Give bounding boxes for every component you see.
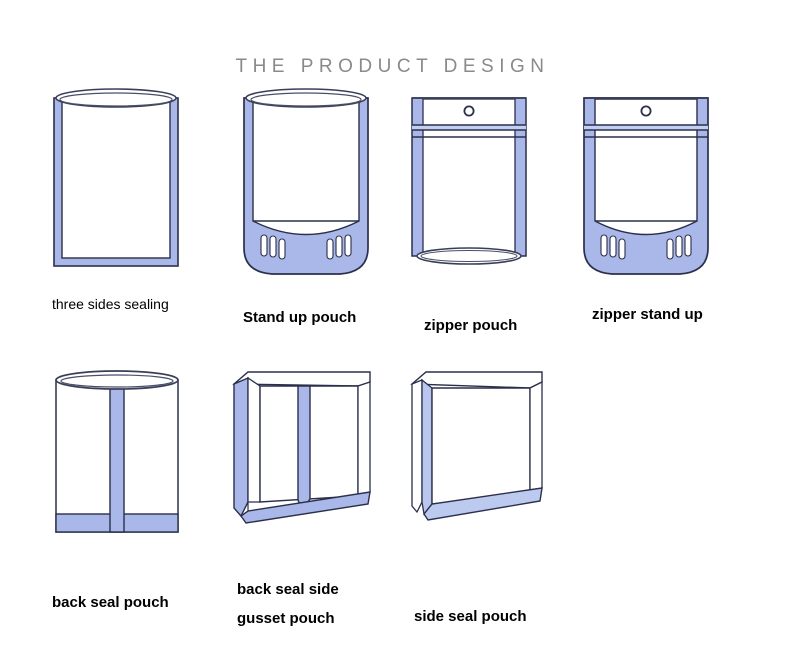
product-design-poster: THE PRODUCT DESIGN three sides sealing bbox=[0, 0, 785, 655]
pouch-top-back-edge bbox=[412, 372, 542, 388]
gusset-notch-right-2 bbox=[336, 236, 342, 257]
center-back-seal bbox=[110, 380, 124, 532]
pouch-front-panel bbox=[62, 100, 170, 258]
left-side-gusset bbox=[234, 378, 248, 516]
gusset-notch-right-2 bbox=[676, 236, 682, 257]
gusset-notch-right-3 bbox=[345, 235, 351, 256]
zipper-stand-up-illustration bbox=[578, 90, 714, 282]
zipper-pouch-illustration bbox=[408, 92, 530, 278]
page-title: THE PRODUCT DESIGN bbox=[0, 56, 785, 78]
gusset-notch-right-1 bbox=[327, 239, 333, 259]
gusset-notch-left-3 bbox=[619, 239, 625, 259]
gusset-inner-fold bbox=[248, 378, 260, 502]
top-oval-opening-inner bbox=[61, 375, 173, 387]
hang-hole-icon bbox=[464, 106, 473, 115]
pouch-front-panel bbox=[253, 100, 359, 235]
hang-hole-icon bbox=[641, 106, 650, 115]
caption-side-seal-pouch: side seal pouch bbox=[414, 602, 527, 631]
caption-three-sides-sealing: three sides sealing bbox=[52, 290, 169, 319]
caption-zipper-pouch: zipper pouch bbox=[424, 311, 517, 340]
back-seal-side-gusset-illustration bbox=[222, 362, 382, 548]
figure-back-seal-pouch bbox=[48, 368, 188, 544]
zipper-band bbox=[412, 125, 526, 130]
figure-back-seal-side-gusset-pouch bbox=[222, 362, 382, 548]
pouch-front-panel bbox=[595, 99, 697, 235]
vertical-side-seal bbox=[422, 380, 432, 514]
top-oval-opening-inner bbox=[60, 93, 172, 106]
gusset-notch-left-1 bbox=[601, 235, 607, 256]
figure-side-seal-pouch bbox=[402, 362, 562, 548]
pouch-right-edge bbox=[358, 382, 370, 496]
figure-zipper-stand-up bbox=[578, 90, 714, 282]
caption-back-seal-side-gusset-pouch: back seal side gusset pouch bbox=[237, 575, 339, 633]
stand-up-pouch-illustration bbox=[238, 88, 374, 280]
figure-stand-up-pouch bbox=[238, 88, 374, 280]
gusset-notch-left-3 bbox=[279, 239, 285, 259]
side-seal-pouch-illustration bbox=[402, 362, 562, 548]
center-back-seal bbox=[298, 386, 310, 510]
figure-zipper-pouch bbox=[408, 92, 530, 278]
figure-three-sides-sealing bbox=[48, 88, 184, 278]
back-seal-pouch-illustration bbox=[48, 368, 188, 544]
gusset-notch-right-1 bbox=[667, 239, 673, 259]
three-sides-sealing-illustration bbox=[48, 88, 184, 278]
left-outer-fold bbox=[412, 380, 422, 512]
bottom-oval-inner bbox=[421, 251, 517, 262]
zipper-band bbox=[584, 125, 708, 130]
pouch-front-panel bbox=[432, 388, 530, 504]
gusset-notch-left-1 bbox=[261, 235, 267, 256]
caption-stand-up-pouch: Stand up pouch bbox=[243, 303, 356, 332]
gusset-notch-right-3 bbox=[685, 235, 691, 256]
caption-zipper-stand-up: zipper stand up bbox=[592, 300, 703, 329]
pouch-right-edge bbox=[530, 382, 542, 494]
pouch-front-panel bbox=[423, 99, 515, 255]
caption-back-seal-pouch: back seal pouch bbox=[52, 588, 169, 617]
top-oval-opening-inner bbox=[251, 93, 361, 106]
gusset-notch-left-2 bbox=[270, 236, 276, 257]
gusset-notch-left-2 bbox=[610, 236, 616, 257]
